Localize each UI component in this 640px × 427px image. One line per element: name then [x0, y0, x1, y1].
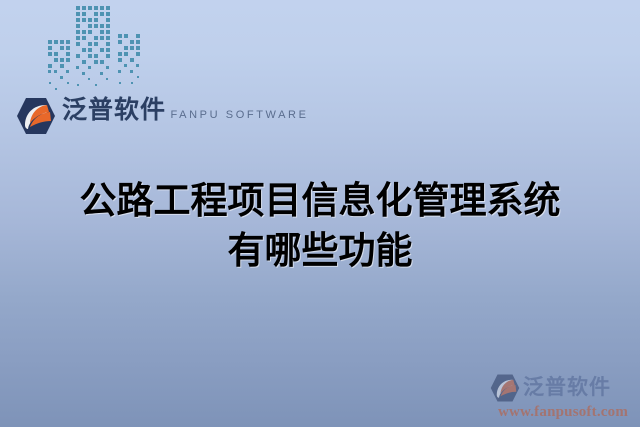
- fanpu-hexagon-logo-icon: [490, 373, 520, 403]
- page-title-line-1: 公路工程项目信息化管理系统: [0, 176, 640, 226]
- page-title-line-2: 有哪些功能: [0, 226, 640, 276]
- watermark-url: www.fanpusoft.com: [490, 404, 636, 421]
- page-title: 公路工程项目信息化管理系统 有哪些功能: [0, 176, 640, 276]
- brand-logo: 泛普软件 FANPU SOFTWARE: [16, 96, 309, 136]
- poster-canvas: 泛普软件 FANPU SOFTWARE 公路工程项目信息化管理系统 有哪些功能 …: [0, 0, 640, 427]
- fanpu-hexagon-logo-icon: [16, 96, 56, 136]
- pixel-skyline-icon: [44, 2, 146, 94]
- brand-name-cn: 泛普软件: [62, 96, 166, 124]
- watermark-name-cn: 泛普软件: [523, 377, 611, 399]
- watermark: 泛普软件 www.fanpusoft.com: [490, 373, 636, 421]
- brand-wordmark: 泛普软件 FANPU SOFTWARE: [62, 96, 309, 123]
- watermark-logo: 泛普软件: [490, 373, 636, 403]
- brand-name-en: FANPU SOFTWARE: [170, 109, 308, 121]
